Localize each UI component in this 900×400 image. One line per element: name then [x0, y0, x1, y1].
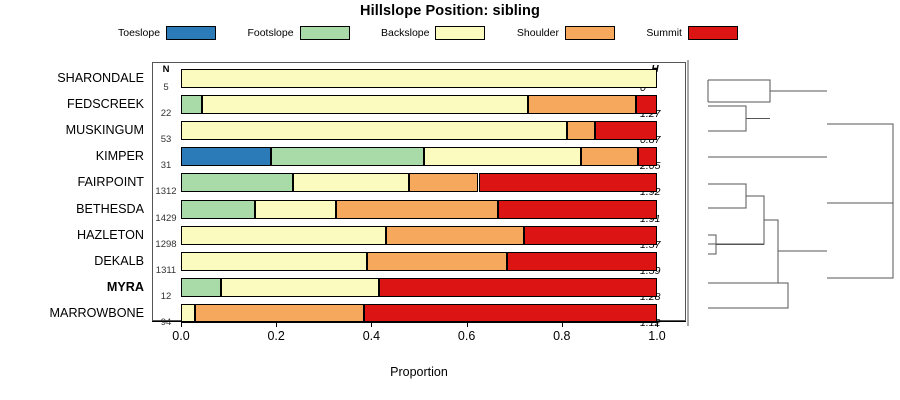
x-axis-tick-label: 0.6 — [447, 329, 487, 343]
dendrogram — [686, 58, 900, 328]
bar-segment-summit — [595, 121, 657, 140]
bar-segment-toeslope — [181, 147, 271, 166]
bar-kimper — [181, 147, 657, 166]
bar-segment-backslope — [181, 226, 386, 245]
x-axis-tick — [657, 321, 658, 327]
bar-muskingum — [181, 121, 657, 140]
bar-segment-backslope — [181, 69, 657, 88]
bar-sharondale — [181, 69, 657, 88]
bar-segment-footslope — [271, 147, 423, 166]
x-axis: 0.00.20.40.60.81.0 — [152, 321, 686, 361]
x-axis-tick — [467, 321, 468, 327]
bar-fedscreek — [181, 95, 657, 114]
bar-segment-shoulder — [367, 252, 507, 271]
bar-segment-backslope — [202, 95, 528, 114]
x-axis-title: Proportion — [152, 365, 686, 379]
bar-fairpoint — [181, 173, 657, 192]
bar-segment-shoulder — [409, 173, 478, 192]
bar-segment-footslope — [181, 200, 255, 219]
bar-dekalb — [181, 252, 657, 271]
bar-segment-footslope — [181, 278, 221, 297]
bar-segment-backslope — [424, 147, 581, 166]
bar-segment-backslope — [221, 278, 379, 297]
bar-segment-summit — [479, 173, 658, 192]
bar-segment-footslope — [181, 95, 202, 114]
x-axis-tick — [371, 321, 372, 327]
bar-segment-backslope — [293, 173, 410, 192]
bar-segment-shoulder — [336, 200, 498, 219]
bar-segment-summit — [379, 278, 657, 297]
bar-segment-shoulder — [567, 121, 596, 140]
bar-segment-backslope — [181, 252, 367, 271]
x-axis-tick-label: 0.8 — [542, 329, 582, 343]
bar-segment-summit — [636, 95, 657, 114]
x-axis-tick-label: 0.0 — [161, 329, 201, 343]
bar-bethesda — [181, 200, 657, 219]
chart-canvas: Hillslope Position: sibling ToeslopeFoot… — [0, 0, 900, 400]
bar-hazleton — [181, 226, 657, 245]
bar-segment-shoulder — [581, 147, 638, 166]
bar-segment-summit — [507, 252, 657, 271]
x-axis-tick — [276, 321, 277, 327]
bar-myra — [181, 278, 657, 297]
bar-segment-summit — [638, 147, 657, 166]
x-axis-tick-label: 1.0 — [637, 329, 677, 343]
bar-segment-shoulder — [386, 226, 524, 245]
bar-segment-summit — [498, 200, 657, 219]
bar-segment-summit — [524, 226, 657, 245]
x-axis-tick-label: 0.2 — [256, 329, 296, 343]
bar-segment-backslope — [181, 121, 567, 140]
x-axis-tick-label: 0.4 — [351, 329, 391, 343]
bar-segment-footslope — [181, 173, 293, 192]
bar-segment-shoulder — [528, 95, 635, 114]
bar-segment-backslope — [255, 200, 336, 219]
x-axis-tick — [562, 321, 563, 327]
x-axis-tick — [181, 321, 182, 327]
x-axis-line — [152, 321, 686, 322]
